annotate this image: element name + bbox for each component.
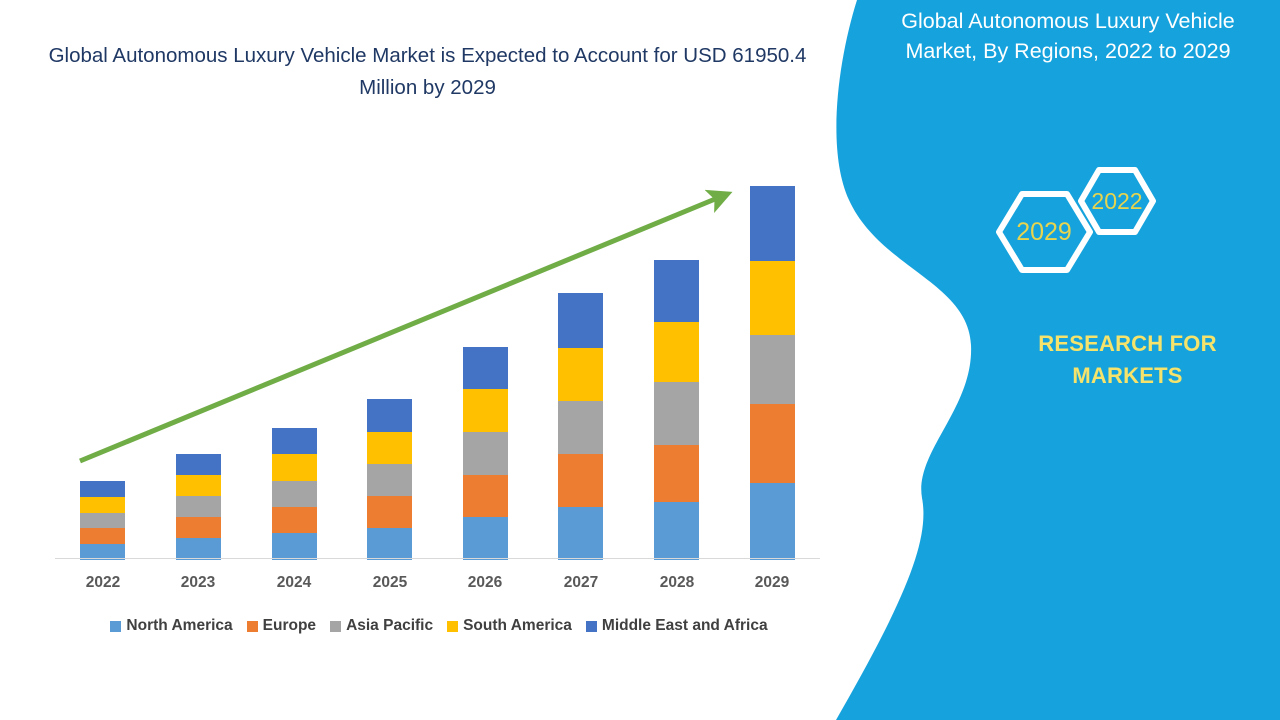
legend-item[interactable]: South America bbox=[447, 617, 572, 635]
bar-column-2025 bbox=[367, 399, 412, 560]
bar-segment bbox=[654, 502, 699, 560]
legend-swatch-icon bbox=[586, 621, 597, 632]
infographic-page: Global Autonomous Luxury Vehicle Market,… bbox=[0, 0, 1280, 720]
hexagon-label-2022: 2022 bbox=[1091, 188, 1142, 214]
x-axis-label-2027: 2027 bbox=[536, 574, 626, 592]
bar-column-2022 bbox=[80, 481, 125, 560]
bar-segment bbox=[80, 513, 125, 528]
legend-label: North America bbox=[126, 617, 232, 635]
x-axis-label-2025: 2025 bbox=[345, 574, 435, 592]
legend-label: Asia Pacific bbox=[346, 617, 433, 635]
bar-segment bbox=[272, 507, 317, 533]
bar-segment bbox=[654, 260, 699, 322]
bar-segment bbox=[272, 454, 317, 481]
bar-segment bbox=[367, 399, 412, 432]
bar-segment bbox=[750, 404, 795, 483]
bar-segment bbox=[367, 432, 412, 464]
brand-wordmark: RESEARCH FOR MARKETS bbox=[1000, 328, 1255, 392]
bar-segment bbox=[367, 496, 412, 528]
bar-segment bbox=[558, 348, 603, 401]
bar-segment bbox=[654, 445, 699, 502]
bar-segment bbox=[463, 389, 508, 432]
bar-segment bbox=[558, 293, 603, 348]
chart-plot-area bbox=[55, 150, 820, 560]
legend-label: South America bbox=[463, 617, 572, 635]
x-axis-line bbox=[55, 558, 820, 559]
legend-label: Europe bbox=[263, 617, 316, 635]
bar-segment bbox=[176, 517, 221, 538]
bar-segment bbox=[750, 335, 795, 404]
legend-swatch-icon bbox=[447, 621, 458, 632]
bar-segment bbox=[80, 497, 125, 513]
bar-segment bbox=[367, 528, 412, 560]
growth-trend-arrow bbox=[55, 150, 820, 560]
bar-segment bbox=[463, 475, 508, 517]
bar-column-2028 bbox=[654, 260, 699, 560]
bar-segment bbox=[176, 538, 221, 560]
bar-segment bbox=[463, 347, 508, 389]
bar-column-2026 bbox=[463, 347, 508, 560]
bar-segment bbox=[176, 475, 221, 496]
legend-swatch-icon bbox=[330, 621, 341, 632]
bar-segment bbox=[272, 481, 317, 507]
panel-title: Global Autonomous Luxury Vehicle Market,… bbox=[866, 6, 1270, 66]
bar-segment bbox=[463, 517, 508, 560]
bar-segment bbox=[463, 432, 508, 475]
x-axis-label-2024: 2024 bbox=[249, 574, 339, 592]
bar-segment bbox=[80, 481, 125, 497]
legend-item[interactable]: North America bbox=[110, 617, 232, 635]
legend-item[interactable]: Asia Pacific bbox=[330, 617, 433, 635]
chart-title: Global Autonomous Luxury Vehicle Market … bbox=[40, 40, 815, 104]
bar-segment bbox=[176, 454, 221, 475]
x-axis-label-2022: 2022 bbox=[58, 574, 148, 592]
bar-segment bbox=[176, 496, 221, 517]
bar-segment bbox=[558, 507, 603, 560]
bar-segment bbox=[654, 322, 699, 382]
bar-segment bbox=[272, 533, 317, 560]
bar-segment bbox=[558, 454, 603, 507]
x-axis-labels: 20222023202420252026202720282029 bbox=[55, 574, 820, 600]
bar-segment bbox=[558, 401, 603, 454]
legend-label: Middle East and Africa bbox=[602, 617, 768, 635]
bar-segment bbox=[272, 428, 317, 454]
x-axis-label-2029: 2029 bbox=[727, 574, 817, 592]
bar-column-2024 bbox=[272, 428, 317, 560]
legend-item[interactable]: Middle East and Africa bbox=[586, 617, 768, 635]
chart-legend: North AmericaEuropeAsia PacificSouth Ame… bbox=[55, 617, 823, 635]
bar-segment bbox=[654, 382, 699, 445]
legend-item[interactable]: Europe bbox=[247, 617, 316, 635]
hexagon-label-2029: 2029 bbox=[1016, 218, 1072, 246]
bar-segment bbox=[750, 483, 795, 560]
x-axis-label-2028: 2028 bbox=[632, 574, 722, 592]
bar-column-2027 bbox=[558, 293, 603, 560]
hexagon-badges: 2029 2022 bbox=[985, 148, 1185, 293]
x-axis-label-2023: 2023 bbox=[153, 574, 243, 592]
bar-segment bbox=[750, 186, 795, 261]
bar-segment bbox=[80, 528, 125, 544]
legend-swatch-icon bbox=[110, 621, 121, 632]
x-axis-label-2026: 2026 bbox=[440, 574, 530, 592]
bar-segment bbox=[367, 464, 412, 496]
bar-column-2029 bbox=[750, 186, 795, 560]
legend-swatch-icon bbox=[247, 621, 258, 632]
bar-segment bbox=[750, 261, 795, 335]
bar-column-2023 bbox=[176, 454, 221, 560]
